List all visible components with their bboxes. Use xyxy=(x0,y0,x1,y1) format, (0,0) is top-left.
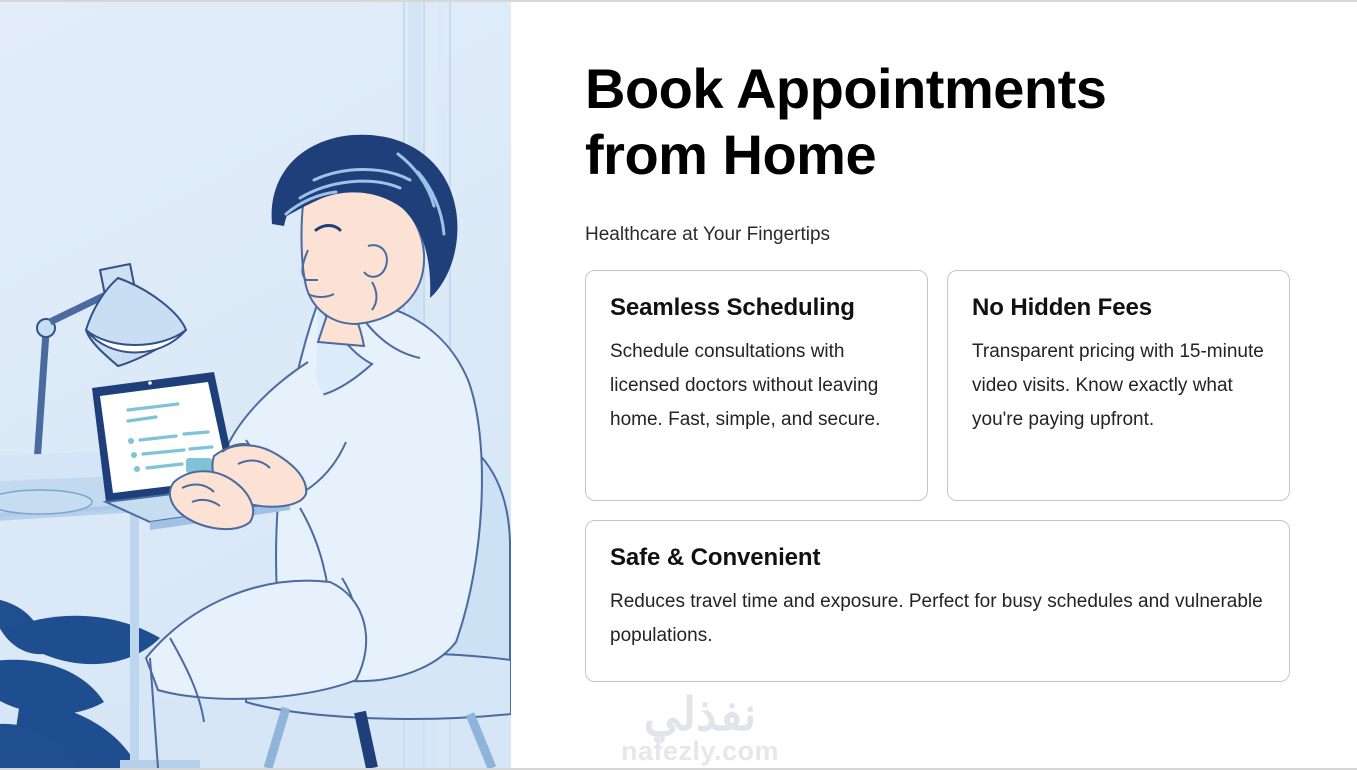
watermark-arabic-text: نفذلي xyxy=(585,690,815,738)
feature-card-no-hidden-fees[interactable]: No Hidden Fees Transparent pricing with … xyxy=(947,270,1290,501)
person-working-on-laptop-illustration xyxy=(0,2,511,768)
watermark: نفذلي nafezly.com xyxy=(585,690,815,766)
feature-cards-row: Seamless Scheduling Schedule consultatio… xyxy=(585,270,1290,501)
feature-card-body: Transparent pricing with 15-minute video… xyxy=(972,335,1265,437)
page-title: Book Appointments from Home xyxy=(585,2,1225,188)
page-subtitle: Healthcare at Your Fingertips xyxy=(585,188,1290,248)
feature-card-title: Seamless Scheduling xyxy=(610,293,903,323)
feature-card-body: Schedule consultations with licensed doc… xyxy=(610,335,903,437)
watermark-url-text: nafezly.com xyxy=(585,736,815,766)
feature-card-title: Safe & Convenient xyxy=(610,543,1265,573)
feature-card-body: Reduces travel time and exposure. Perfec… xyxy=(610,585,1265,653)
content-panel: Book Appointments from Home Healthcare a… xyxy=(511,2,1357,768)
feature-card-safe-and-convenient[interactable]: Safe & Convenient Reduces travel time an… xyxy=(585,520,1290,682)
slide-root: Book Appointments from Home Healthcare a… xyxy=(0,0,1357,770)
illustration-panel xyxy=(0,2,511,768)
feature-card-seamless-scheduling[interactable]: Seamless Scheduling Schedule consultatio… xyxy=(585,270,928,501)
feature-card-title: No Hidden Fees xyxy=(972,293,1265,323)
